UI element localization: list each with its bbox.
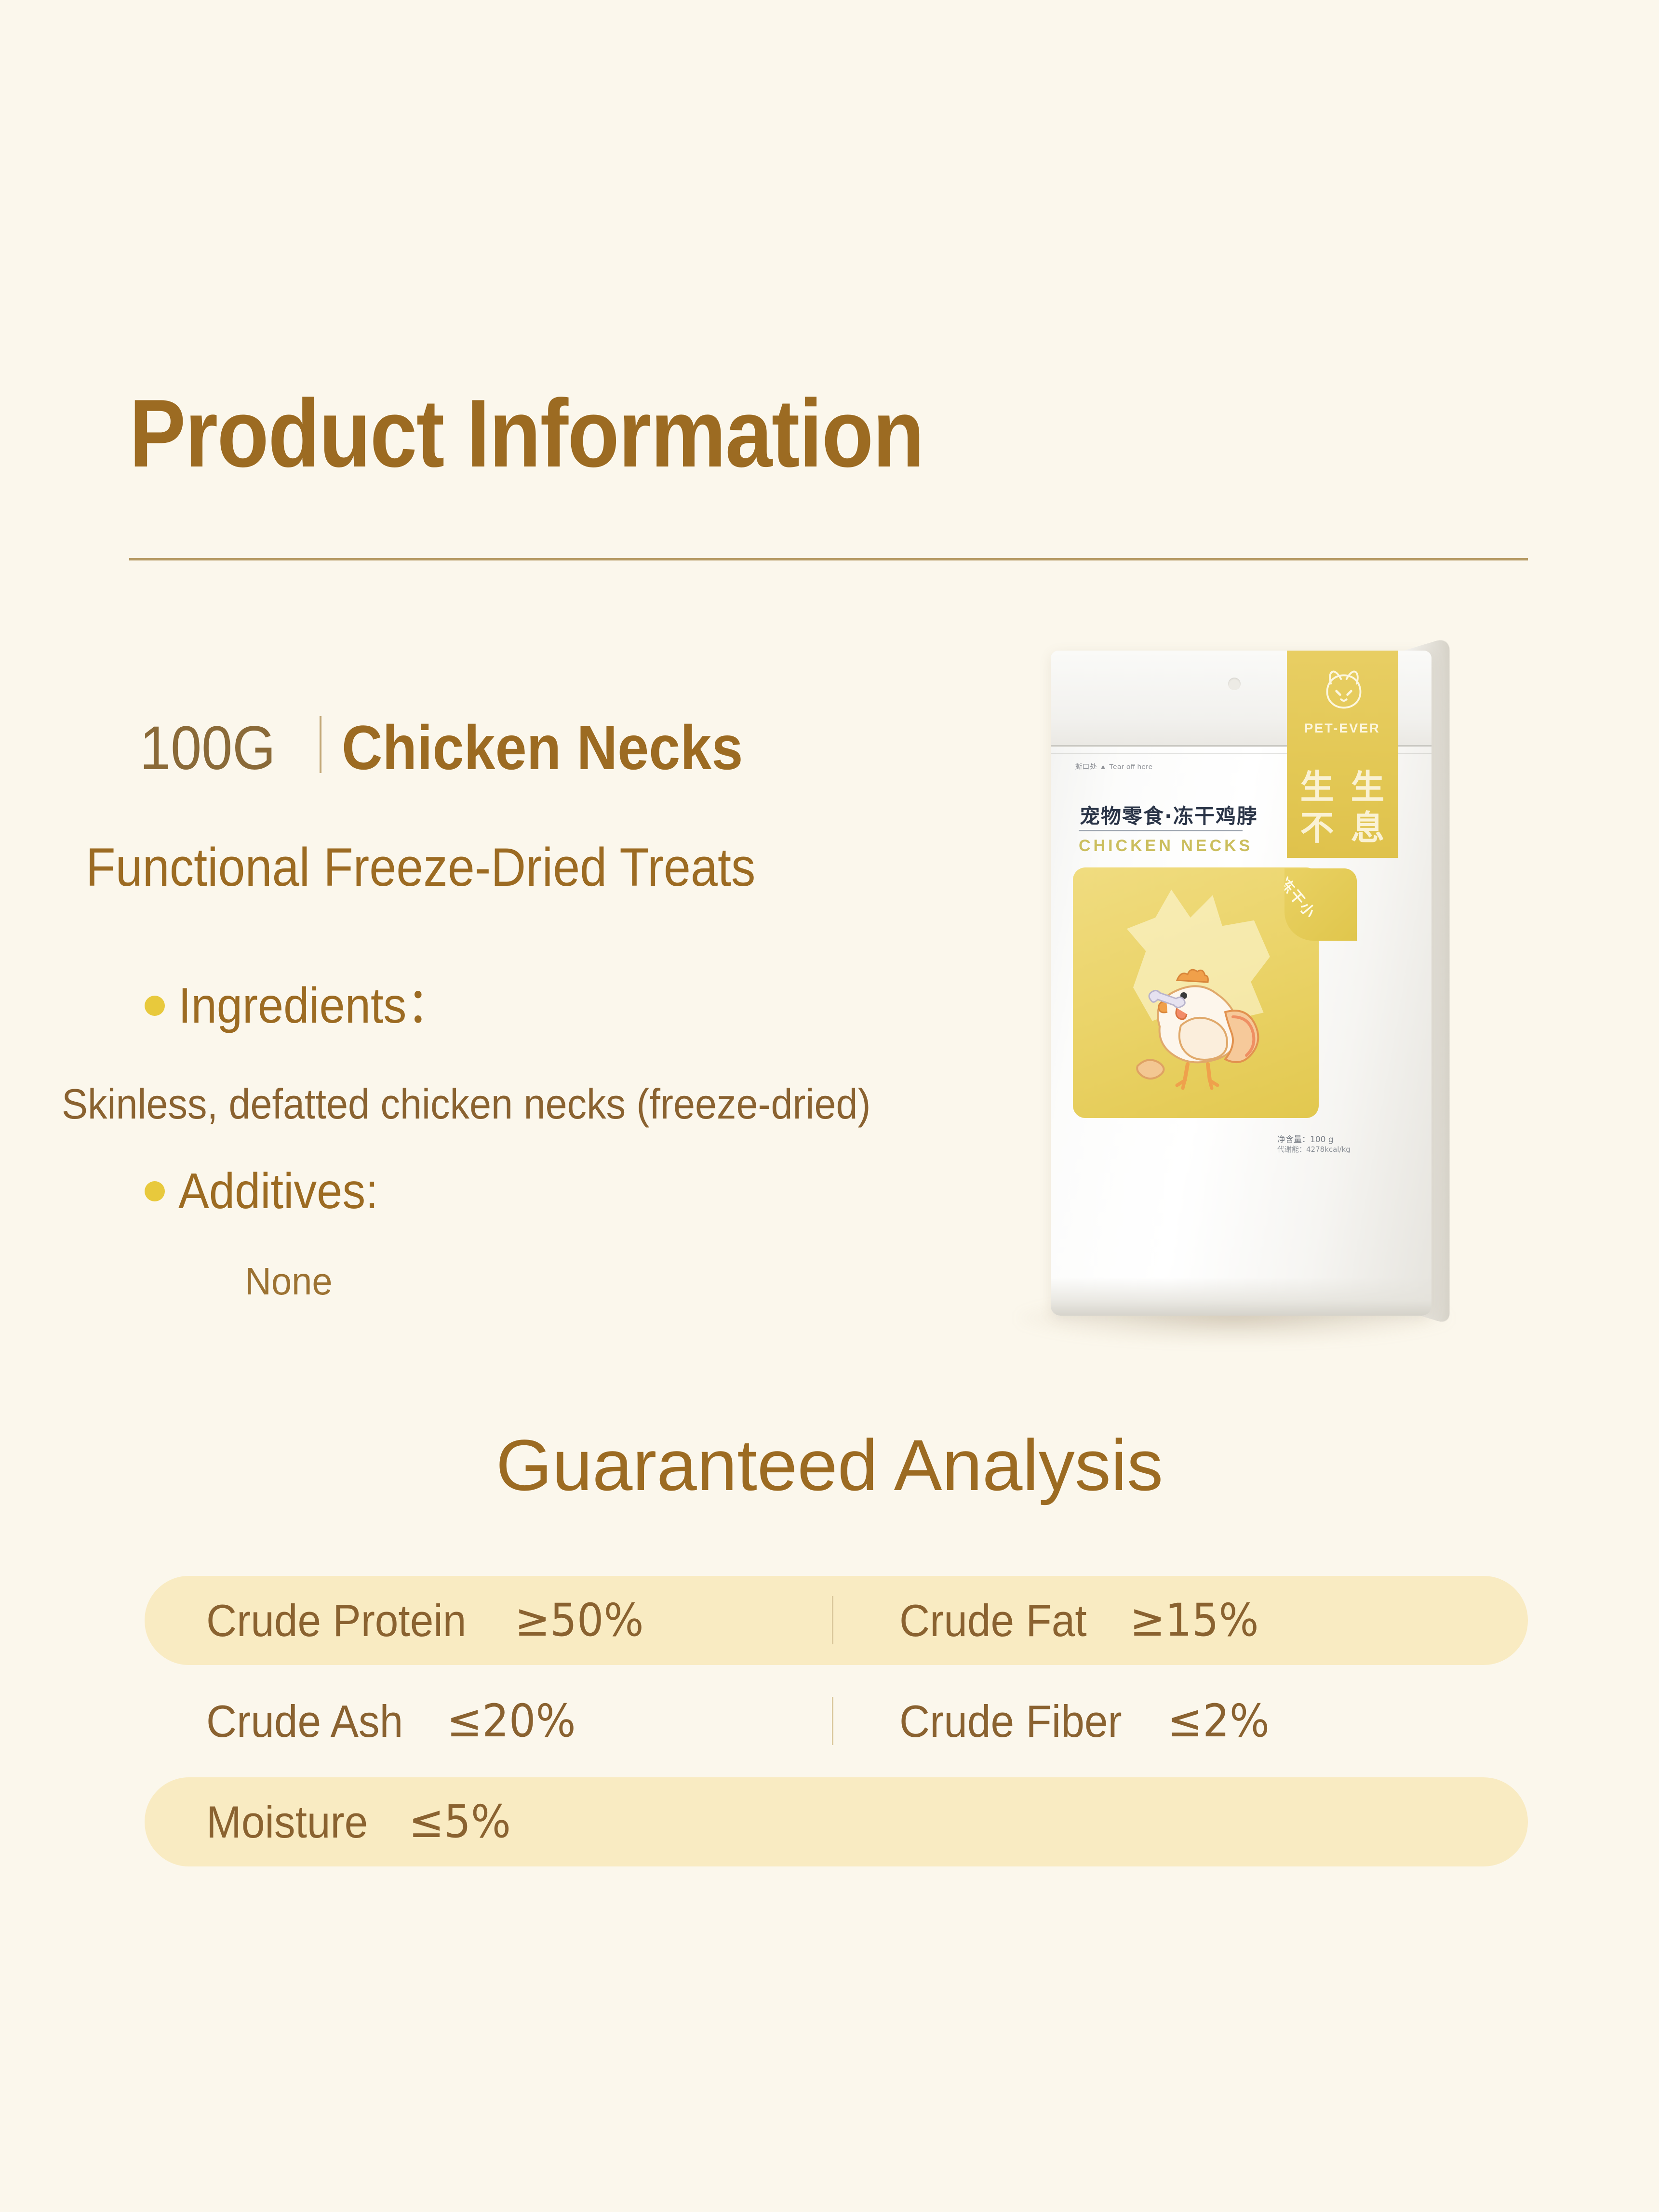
analysis-nutrient-value: ≤2% bbox=[1167, 1699, 1270, 1744]
product-headline: 100G Chicken Necks bbox=[140, 712, 788, 779]
package-tear-off-text: 撕口处 ▲ Tear off here bbox=[1075, 762, 1153, 771]
analysis-nutrient-value: ≥50% bbox=[515, 1598, 644, 1643]
package-chinese-name: 宠物零食·冻干鸡脖 bbox=[1080, 800, 1258, 829]
ingredients-value: Skinless, defatted chicken necks (freeze… bbox=[62, 1081, 870, 1128]
analysis-nutrient-value: ≤20% bbox=[447, 1699, 576, 1744]
table-row: Crude Ash ≤20% Crude Fiber ≤2% bbox=[145, 1677, 1528, 1766]
analysis-row-divider bbox=[832, 1697, 833, 1745]
slogan-char-1: 生 bbox=[1300, 770, 1334, 804]
title-divider bbox=[129, 558, 1528, 560]
analysis-nutrient-value: ≤5% bbox=[409, 1799, 511, 1845]
analysis-nutrient-name: Crude Protein bbox=[206, 1598, 466, 1643]
cat-face-logo-icon bbox=[1321, 668, 1367, 712]
headline-separator bbox=[320, 716, 321, 773]
bullet-dot-icon bbox=[145, 996, 165, 1016]
package-illustration-panel bbox=[1073, 867, 1319, 1118]
analysis-cell: Moisture ≤5% bbox=[145, 1799, 839, 1845]
analysis-title: Guaranteed Analysis bbox=[0, 1429, 1659, 1501]
slogan-char-3: 不 bbox=[1300, 811, 1334, 845]
analysis-cell: Crude Fat ≥15% bbox=[839, 1598, 1504, 1643]
package-energy-value: 代谢能：4278kcal/kg bbox=[1277, 1144, 1351, 1154]
analysis-table: Crude Protein ≥50% Crude Fat ≥15% Crude … bbox=[145, 1576, 1528, 1878]
additives-heading: Additives: bbox=[145, 1166, 396, 1216]
package-front: 撕口处 ▲ Tear off here PET-EVER 生 生 不 息 宠物零… bbox=[1051, 651, 1432, 1316]
ingredients-heading: Ingredients： bbox=[145, 981, 477, 1031]
package-badge-text: 冻干小 bbox=[1284, 872, 1322, 922]
product-name: Chicken Necks bbox=[342, 716, 743, 779]
analysis-nutrient-name: Crude Fiber bbox=[899, 1699, 1122, 1744]
additives-label: Additives: bbox=[178, 1166, 378, 1216]
package-brand-name: PET-EVER bbox=[1291, 721, 1394, 736]
analysis-nutrient-name: Crude Fat bbox=[899, 1598, 1087, 1643]
product-information-page: Product Information 100G Chicken Necks F… bbox=[0, 0, 1659, 2212]
package-bottom-fold bbox=[1051, 1277, 1432, 1316]
analysis-nutrient-name: Moisture bbox=[206, 1799, 368, 1845]
additives-value: None bbox=[245, 1260, 333, 1303]
analysis-cell: Crude Protein ≥50% bbox=[145, 1598, 839, 1643]
hang-hole-icon bbox=[1228, 678, 1241, 690]
product-weight: 100G bbox=[140, 718, 276, 779]
chicken-illustration-icon bbox=[1131, 954, 1271, 1099]
analysis-cell: Crude Ash ≤20% bbox=[145, 1699, 839, 1744]
ingredients-label: Ingredients： bbox=[178, 981, 453, 1031]
bullet-dot-icon bbox=[145, 1181, 165, 1201]
table-row: Moisture ≤5% bbox=[145, 1777, 1528, 1866]
page-title: Product Information bbox=[129, 386, 923, 482]
table-row: Crude Protein ≥50% Crude Fat ≥15% bbox=[145, 1576, 1528, 1665]
analysis-nutrient-value: ≥15% bbox=[1130, 1598, 1259, 1643]
analysis-cell: Crude Fiber ≤2% bbox=[839, 1699, 1504, 1744]
analysis-row-divider bbox=[832, 1596, 833, 1644]
package-corner-badge: 冻干小 bbox=[1284, 868, 1357, 941]
package-english-name: CHICKEN NECKS bbox=[1079, 837, 1253, 855]
product-subtitle: Functional Freeze-Dried Treats bbox=[86, 838, 755, 897]
package-net-weight: 净含量：100 g bbox=[1277, 1133, 1334, 1145]
analysis-nutrient-name: Crude Ash bbox=[206, 1699, 403, 1744]
package-name-underline bbox=[1079, 830, 1243, 831]
package-slogan: 生 生 不 息 bbox=[1292, 766, 1393, 848]
slogan-char-4: 息 bbox=[1351, 811, 1385, 845]
product-package-image: 撕口处 ▲ Tear off here PET-EVER 生 生 不 息 宠物零… bbox=[988, 636, 1499, 1388]
slogan-char-2: 生 bbox=[1351, 770, 1385, 804]
